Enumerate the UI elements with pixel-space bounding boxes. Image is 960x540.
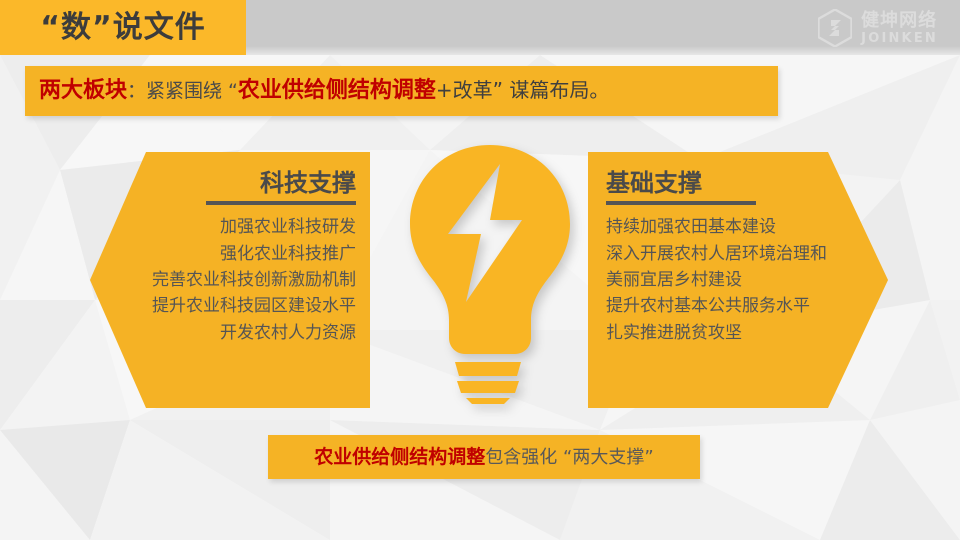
logo-name-cn: 健坤网络 <box>861 12 938 30</box>
panel-foundation-support[interactable]: 基础支撑 持续加强农田基本建设 深入开展农村人居环境治理和美丽宜居乡村建设 提升… <box>588 152 888 408</box>
bottom-summary-text: 农业供给侧结构调整包含强化 “两大支撑” <box>314 448 653 467</box>
list-item: 提升农业科技园区建设水平 <box>152 293 356 319</box>
brand-logo: 健坤网络 JOINKEN <box>818 8 938 48</box>
top-banner-mid: ：紧紧围绕 “ <box>127 80 238 102</box>
list-item: 开发农村人力资源 <box>152 320 356 346</box>
list-item: 持续加强农田基本建设 <box>606 214 838 240</box>
list-item: 强化农业科技推广 <box>152 241 356 267</box>
top-banner-emphasis: 农业供给侧结构调整 <box>238 78 436 103</box>
lightbulb-with-lightning-icon <box>404 142 576 404</box>
bottom-banner-tail: 包含强化 “两大支撑” <box>485 447 653 468</box>
list-item: 提升农村基本公共服务水平 <box>606 293 838 319</box>
joinken-hex-logo-icon <box>818 9 852 47</box>
list-item: 扎实推进脱贫攻坚 <box>606 320 838 346</box>
panel-foundation-support-title: 基础支撑 <box>606 170 702 196</box>
panel-foundation-support-list: 持续加强农田基本建设 深入开展农村人居环境治理和美丽宜居乡村建设 提升农村基本公… <box>606 214 838 346</box>
bottom-summary-banner: 农业供给侧结构调整包含强化 “两大支撑” <box>268 435 700 479</box>
list-item: 加强农业科技研发 <box>152 214 356 240</box>
top-banner-tail: +改革” 谋篇布局。 <box>436 78 609 102</box>
panel-foundation-support-body: 基础支撑 持续加强农田基本建设 深入开展农村人居环境治理和美丽宜居乡村建设 提升… <box>606 152 840 408</box>
bottom-banner-emphasis: 农业供给侧结构调整 <box>314 446 485 468</box>
top-banner-lead: 两大板块 <box>39 78 127 103</box>
panel-tech-support-body: 科技支撑 加强农业科技研发 强化农业科技推广 完善农业科技创新激励机制 提升农业… <box>144 152 356 408</box>
top-statement-banner: 两大板块：紧紧围绕 “农业供给侧结构调整+改革” 谋篇布局。 <box>25 66 778 116</box>
logo-wordmark: 健坤网络 JOINKEN <box>861 12 938 45</box>
list-item: 完善农业科技创新激励机制 <box>152 267 356 293</box>
page-title-block: “数”说文件 <box>0 0 246 55</box>
list-item: 深入开展农村人居环境治理和美丽宜居乡村建设 <box>606 241 838 294</box>
panel-tech-support-underline <box>206 201 356 205</box>
panel-tech-support-title: 科技支撑 <box>260 170 356 196</box>
page-title: “数”说文件 <box>40 13 205 43</box>
panel-tech-support-list: 加强农业科技研发 强化农业科技推广 完善农业科技创新激励机制 提升农业科技园区建… <box>152 214 356 346</box>
logo-name-en: JOINKEN <box>861 32 938 45</box>
panel-tech-support[interactable]: 科技支撑 加强农业科技研发 强化农业科技推广 完善农业科技创新激励机制 提升农业… <box>90 152 370 408</box>
top-statement-text: 两大板块：紧紧围绕 “农业供给侧结构调整+改革” 谋篇布局。 <box>25 80 609 102</box>
panel-foundation-support-underline <box>606 201 756 205</box>
slide-canvas: “数”说文件 健坤网络 JOINKEN 两大板块：紧紧围绕 “农业供给侧结构调整… <box>0 0 960 540</box>
